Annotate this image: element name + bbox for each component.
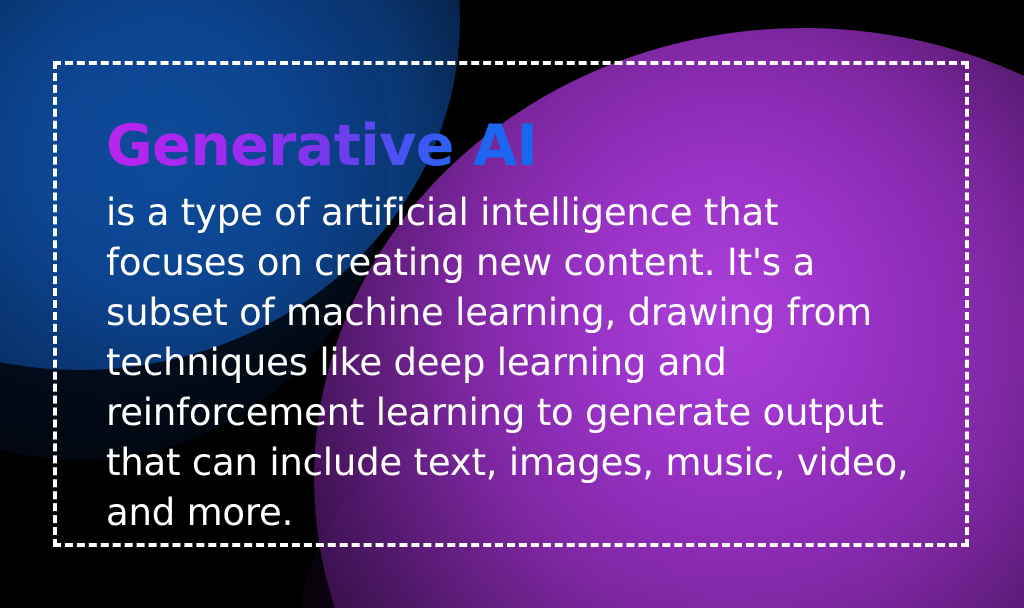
infographic-card: Generative AI is a type of artificial in… bbox=[0, 0, 1024, 608]
card-content: Generative AI is a type of artificial in… bbox=[106, 118, 936, 538]
page-title: Generative AI bbox=[106, 118, 537, 175]
body-paragraph: is a type of artificial intelligence tha… bbox=[106, 188, 926, 538]
